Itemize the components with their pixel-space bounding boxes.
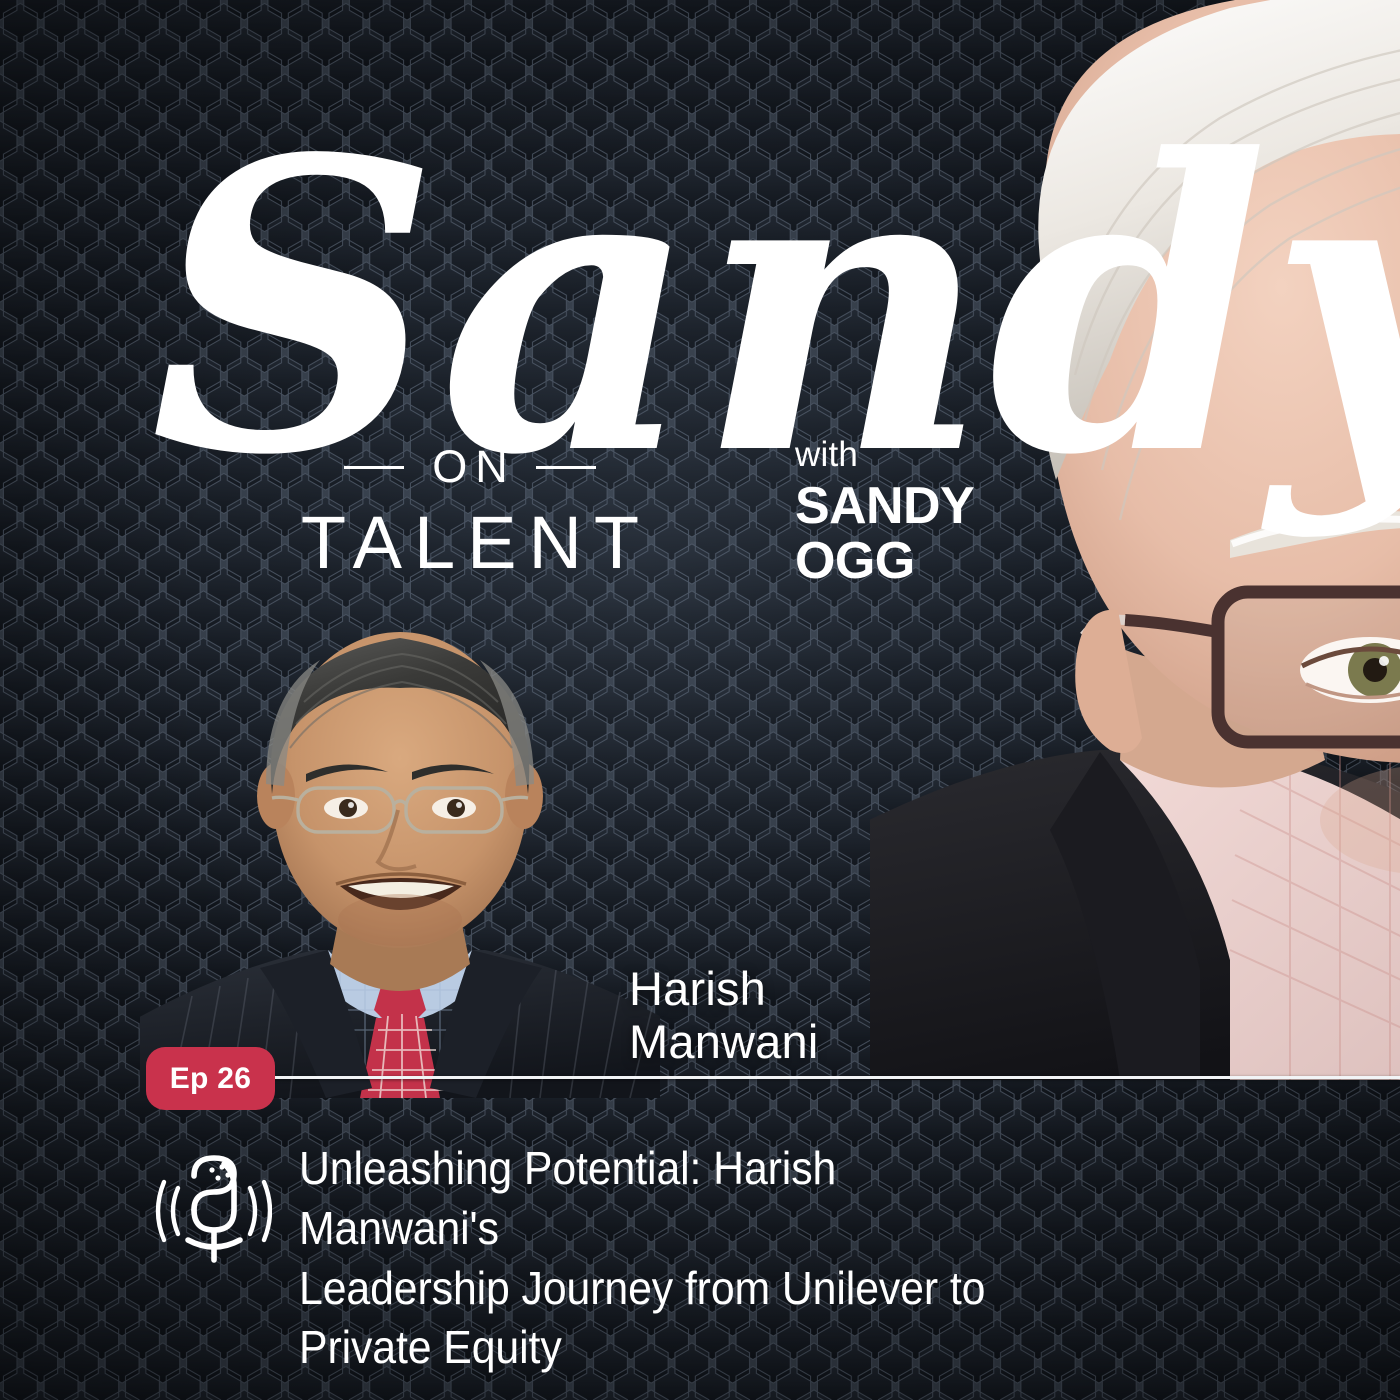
brand-subtitle-lockup: ON TALENT — [150, 440, 790, 585]
horizontal-divider-rule — [272, 1076, 1400, 1079]
on-row: ON — [150, 440, 790, 494]
guest-name-line2: Manwani — [629, 1016, 819, 1069]
with-label: with — [795, 437, 974, 472]
guest-name: Harish Manwani — [629, 963, 819, 1068]
episode-title-line3: Private Equity — [299, 1318, 1034, 1378]
guest-portrait-photo — [140, 598, 660, 1098]
episode-title-line2: Leadership Journey from Unilever to — [299, 1259, 1034, 1319]
brand-talent-word: TALENT — [150, 500, 790, 585]
dash-left-icon — [344, 466, 404, 469]
brand-on-word: ON — [424, 441, 516, 493]
microphone-icon — [148, 1148, 272, 1278]
episode-title-line1: Unleashing Potential: Harish Manwani's — [299, 1139, 1034, 1259]
host-name-line2: OGG — [795, 534, 974, 589]
dash-right-icon — [536, 466, 596, 469]
episode-number-badge: Ep 26 — [146, 1047, 275, 1110]
guest-name-line1: Harish — [629, 963, 819, 1016]
episode-title: Unleashing Potential: Harish Manwani's L… — [299, 1139, 1034, 1378]
podcast-cover-art: Sandy ON TALENT with SANDY OGG Harish Ma… — [0, 0, 1400, 1400]
host-name-line1: SANDY — [795, 479, 974, 534]
host-credit: with SANDY OGG — [795, 437, 974, 589]
